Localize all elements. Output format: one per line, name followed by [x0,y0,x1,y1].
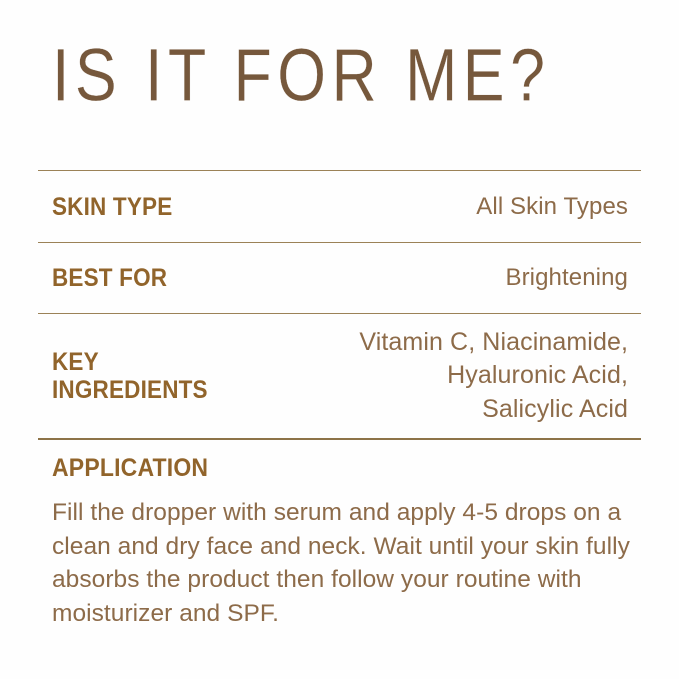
application-heading: APPLICATION [52,454,595,483]
table-row-best-for: BEST FOR Brightening [38,243,641,313]
spec-label-best-for: BEST FOR [52,264,167,292]
spec-label-key-ingredients: KEY INGREDIENTS [52,348,208,404]
application-body-text: Fill the dropper with serum and apply 4-… [52,496,640,630]
spec-label-skin-type: SKIN TYPE [52,193,172,221]
spec-table: SKIN TYPE All Skin Types BEST FOR Bright… [38,170,641,440]
page-title: IS IT FOR ME? [52,39,550,113]
table-row-key-ingredients: KEY INGREDIENTS Vitamin C, Niacinamide, … [38,314,641,438]
table-row-skin-type: SKIN TYPE All Skin Types [38,171,641,242]
spec-value-skin-type: All Skin Types [186,191,641,222]
page-title-container: IS IT FOR ME? [52,30,642,122]
application-section: APPLICATION Fill the dropper with serum … [52,454,642,630]
product-info-card: IS IT FOR ME? SKIN TYPE All Skin Types B… [0,0,679,679]
divider-after-key-ingredients [38,438,641,440]
spec-value-best-for: Brightening [180,262,641,293]
spec-value-key-ingredients: Vitamin C, Niacinamide, Hyaluronic Acid,… [225,326,641,426]
